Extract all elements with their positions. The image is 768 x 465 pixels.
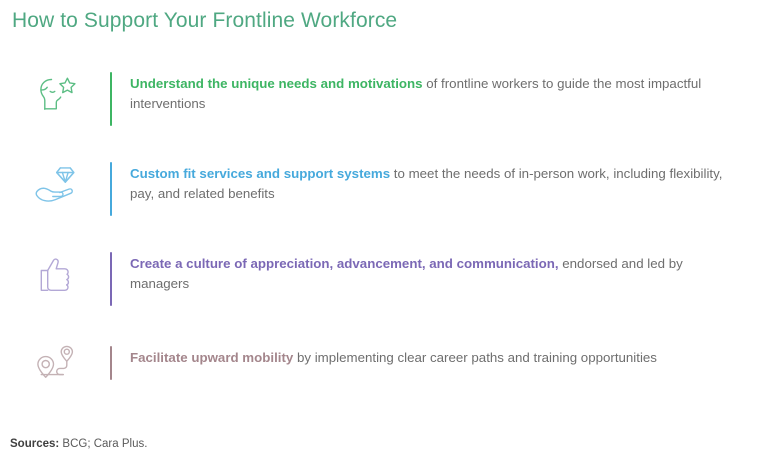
list-item: Facilitate upward mobility by implementi… xyxy=(0,332,768,422)
map-route-pins-icon xyxy=(0,332,110,390)
list-item: Understand the unique needs and motivati… xyxy=(0,62,768,152)
list-item: Create a culture of appreciation, advanc… xyxy=(0,242,768,332)
list-item-lead: Understand the unique needs and motivati… xyxy=(130,76,423,91)
list-item-text: Facilitate upward mobility by implementi… xyxy=(112,332,768,368)
list-item: Custom fit services and support systems … xyxy=(0,152,768,242)
list-item-text: Create a culture of appreciation, advanc… xyxy=(112,242,768,294)
sources-note: Sources: BCG; Cara Plus. xyxy=(10,437,147,452)
sources-label: Sources: xyxy=(10,438,59,450)
head-with-star-icon xyxy=(0,62,110,120)
thumbs-up-icon xyxy=(0,242,110,300)
list-item-lead: Facilitate upward mobility xyxy=(130,350,293,365)
sources-text: BCG; Cara Plus. xyxy=(59,438,147,450)
page-title: How to Support Your Frontline Workforce xyxy=(12,9,397,33)
hand-holding-diamond-icon xyxy=(0,152,110,210)
list-item-text: Understand the unique needs and motivati… xyxy=(112,62,768,114)
recommendation-list: Understand the unique needs and motivati… xyxy=(0,62,768,422)
slide-root: How to Support Your Frontline Workforce … xyxy=(0,0,768,465)
list-item-lead: Custom fit services and support systems xyxy=(130,166,390,181)
list-item-rest: by implementing clear career paths and t… xyxy=(293,350,657,365)
list-item-text: Custom fit services and support systems … xyxy=(112,152,768,204)
list-item-lead: Create a culture of appreciation, advanc… xyxy=(130,256,559,271)
